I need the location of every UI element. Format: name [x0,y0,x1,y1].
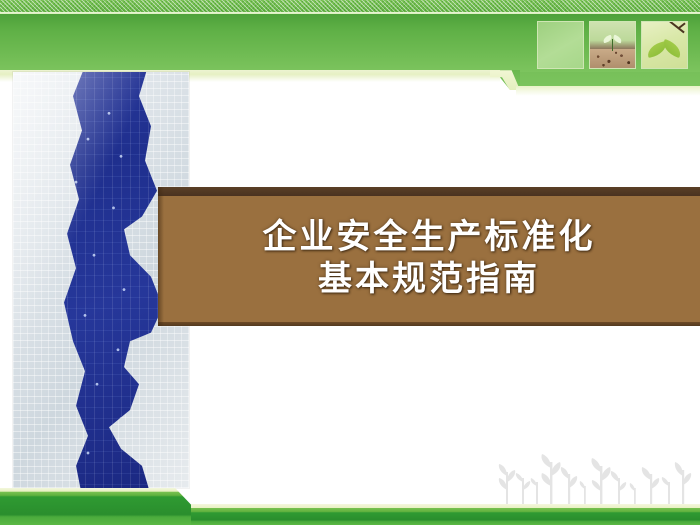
plant-sprout-5 [561,467,577,504]
footer-bar-right [160,504,700,525]
plant-sprout-9 [630,483,636,504]
plant-sprout-6 [580,481,586,504]
sprout-in-soil-thumbnail [589,21,636,69]
header-hatch-separator [0,12,700,14]
header-thumbnail-row [537,21,689,69]
sprout-leaf-right [612,35,623,44]
wood-top-bevel [158,187,700,196]
leaves-with-tool-thumbnail [641,21,688,69]
plant-sprout-7 [591,458,610,504]
plant-sprout-10 [642,467,659,504]
slide-title: 企业安全生产标准化 基本规范指南 [158,196,700,322]
sprout-leaf-left [602,35,612,43]
header-band-main [0,14,520,72]
wood-bottom-bevel [158,322,700,326]
blank-green-thumbnail [537,21,584,69]
footer-bar-left [0,488,172,525]
title-line-2: 基本规范指南 [318,262,540,298]
plant-sprout-3 [531,478,538,504]
plant-sprout-1 [499,464,515,504]
plant-sprout-4 [541,454,560,504]
plant-sprout-8 [611,471,626,504]
footer-bar-diagonal [155,488,191,525]
title-line-1: 企业安全生产标准化 [263,220,596,256]
soil-texture [590,49,635,68]
plant-sprout-11 [662,477,670,504]
header-accent-line-right [516,86,700,96]
plant-sprout-12 [675,462,691,504]
header-hatch-strip [0,0,700,12]
plant-sprout-2 [516,473,530,504]
sprout-stem [612,39,614,51]
plant-sprouts-silhouette [492,452,697,504]
presentation-slide: 企业安全生产标准化 基本规范指南 [0,0,700,525]
